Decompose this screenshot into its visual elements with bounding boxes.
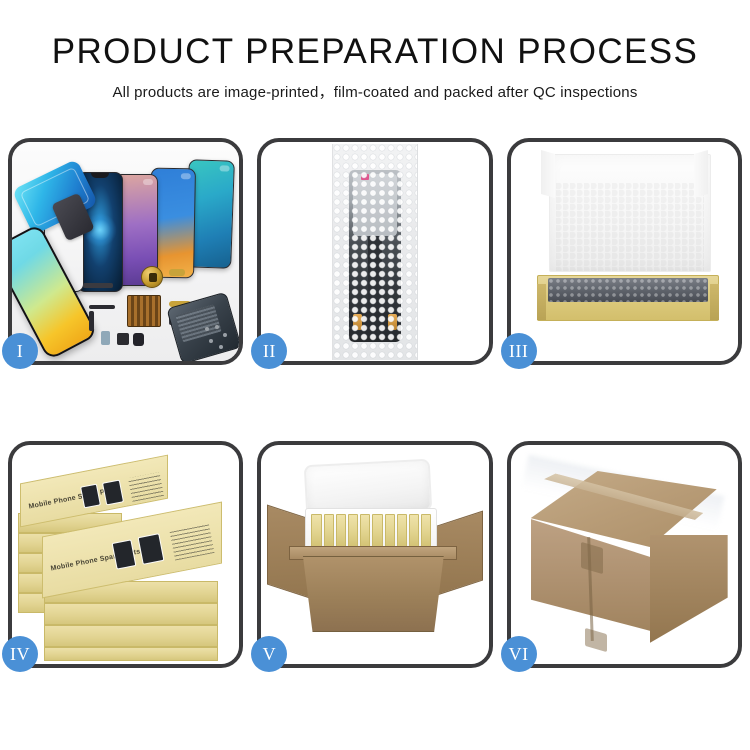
spare-parts-cluster — [83, 265, 233, 357]
process-steps-grid: I — [8, 138, 742, 698]
process-step-3[interactable]: III — [507, 138, 742, 365]
step-1-image — [12, 142, 239, 361]
step-frame — [257, 441, 492, 668]
white-foam-insert — [549, 154, 711, 272]
step-frame: Mobile Phone Spare Parts Mobile Phone Sp… — [8, 441, 243, 668]
step-3-image — [511, 142, 738, 361]
page-title: PRODUCT PREPARATION PROCESS — [0, 34, 750, 69]
box-lid-flap-left — [541, 150, 555, 198]
step-badge-1: I — [2, 333, 38, 369]
step-6-image — [511, 445, 738, 664]
bubble-texture — [333, 144, 417, 360]
process-step-5[interactable]: V — [257, 441, 492, 668]
header: PRODUCT PREPARATION PROCESS All products… — [0, 0, 750, 102]
process-step-4[interactable]: Mobile Phone Spare Parts Mobile Phone Sp… — [8, 441, 243, 668]
process-step-1[interactable]: I — [8, 138, 243, 365]
kraft-tray-box — [537, 275, 719, 321]
speaker-part — [141, 266, 163, 288]
ic-chip-grid — [127, 295, 161, 327]
process-step-2[interactable]: II — [257, 138, 492, 365]
step-frame — [8, 138, 243, 365]
screws-group — [203, 323, 231, 353]
yellow-boxes-inside — [311, 512, 431, 548]
bubble-wrap-bag — [332, 144, 418, 360]
retail-box-stack: Mobile Phone Spare Parts Mobile Phone Sp… — [18, 461, 236, 657]
step-badge-4: IV — [2, 636, 38, 672]
bubble-wrapped-contents — [548, 278, 708, 302]
step-2-image — [261, 142, 488, 361]
step-frame — [257, 138, 492, 365]
step-badge-6: VI — [501, 636, 537, 672]
step-frame — [507, 138, 742, 365]
box-lid-flap-right — [694, 150, 708, 198]
step-5-image — [261, 445, 488, 664]
carton-side-face — [650, 535, 728, 643]
step-badge-3: III — [501, 333, 537, 369]
shipping-carton-open — [293, 556, 453, 632]
process-step-6[interactable]: VI — [507, 441, 742, 668]
product-preparation-infographic: PRODUCT PREPARATION PROCESS All products… — [0, 0, 750, 750]
step-4-image: Mobile Phone Spare Parts Mobile Phone Sp… — [12, 445, 239, 664]
step-frame — [507, 441, 742, 668]
page-subtitle: All products are image-printed，film-coat… — [0, 81, 750, 102]
